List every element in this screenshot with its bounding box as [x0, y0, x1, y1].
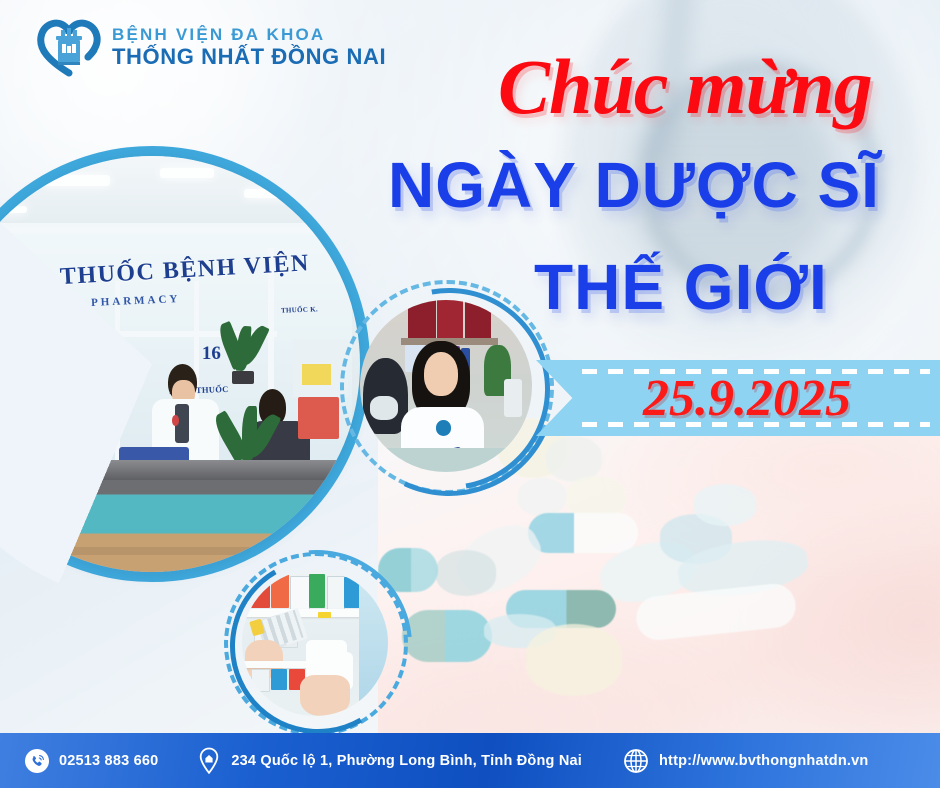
event-date: 25.9.2025 [536, 360, 940, 436]
location-pin-icon [196, 746, 222, 776]
contact-footer: 02513 883 660 234 Quốc lộ 1, Phường Long… [0, 733, 940, 788]
footer-website[interactable]: http://www.bvthongnhatdn.vn [622, 747, 868, 775]
phone-call-icon [24, 748, 50, 774]
phone-number: 02513 883 660 [59, 753, 158, 769]
heart-tower-logo-icon [36, 16, 102, 78]
pharmacist-photo [360, 300, 532, 472]
greeting-text: Chúc mừng [498, 42, 872, 132]
globe-icon [622, 747, 650, 775]
address-text: 234 Quốc lộ 1, Phường Long Bình, Tỉnh Đồ… [231, 753, 582, 769]
poster-canvas: NHÀ THUỐC BỆNH VIỆN PHARMACY THUỐC K. 14… [0, 0, 940, 788]
medicine-inset [222, 550, 408, 736]
website-url: http://www.bvthongnhatdn.vn [659, 753, 868, 769]
pharmacist-inset [338, 278, 554, 494]
logo-line-1: BỆNH VIỆN ĐA KHOA [112, 26, 386, 43]
footer-phone[interactable]: 02513 883 660 [24, 748, 158, 774]
medicine-photo [242, 570, 388, 716]
logo-line-2: THỐNG NHẤT ĐỒNG NAI [112, 46, 386, 68]
title-line-2: THẾ GIỚI [534, 250, 828, 324]
hospital-logo[interactable]: BỆNH VIỆN ĐA KHOA THỐNG NHẤT ĐỒNG NAI [36, 16, 386, 78]
footer-address[interactable]: 234 Quốc lộ 1, Phường Long Bình, Tỉnh Đồ… [196, 746, 582, 776]
title-line-1: NGÀY DƯỢC SĨ [388, 148, 880, 222]
